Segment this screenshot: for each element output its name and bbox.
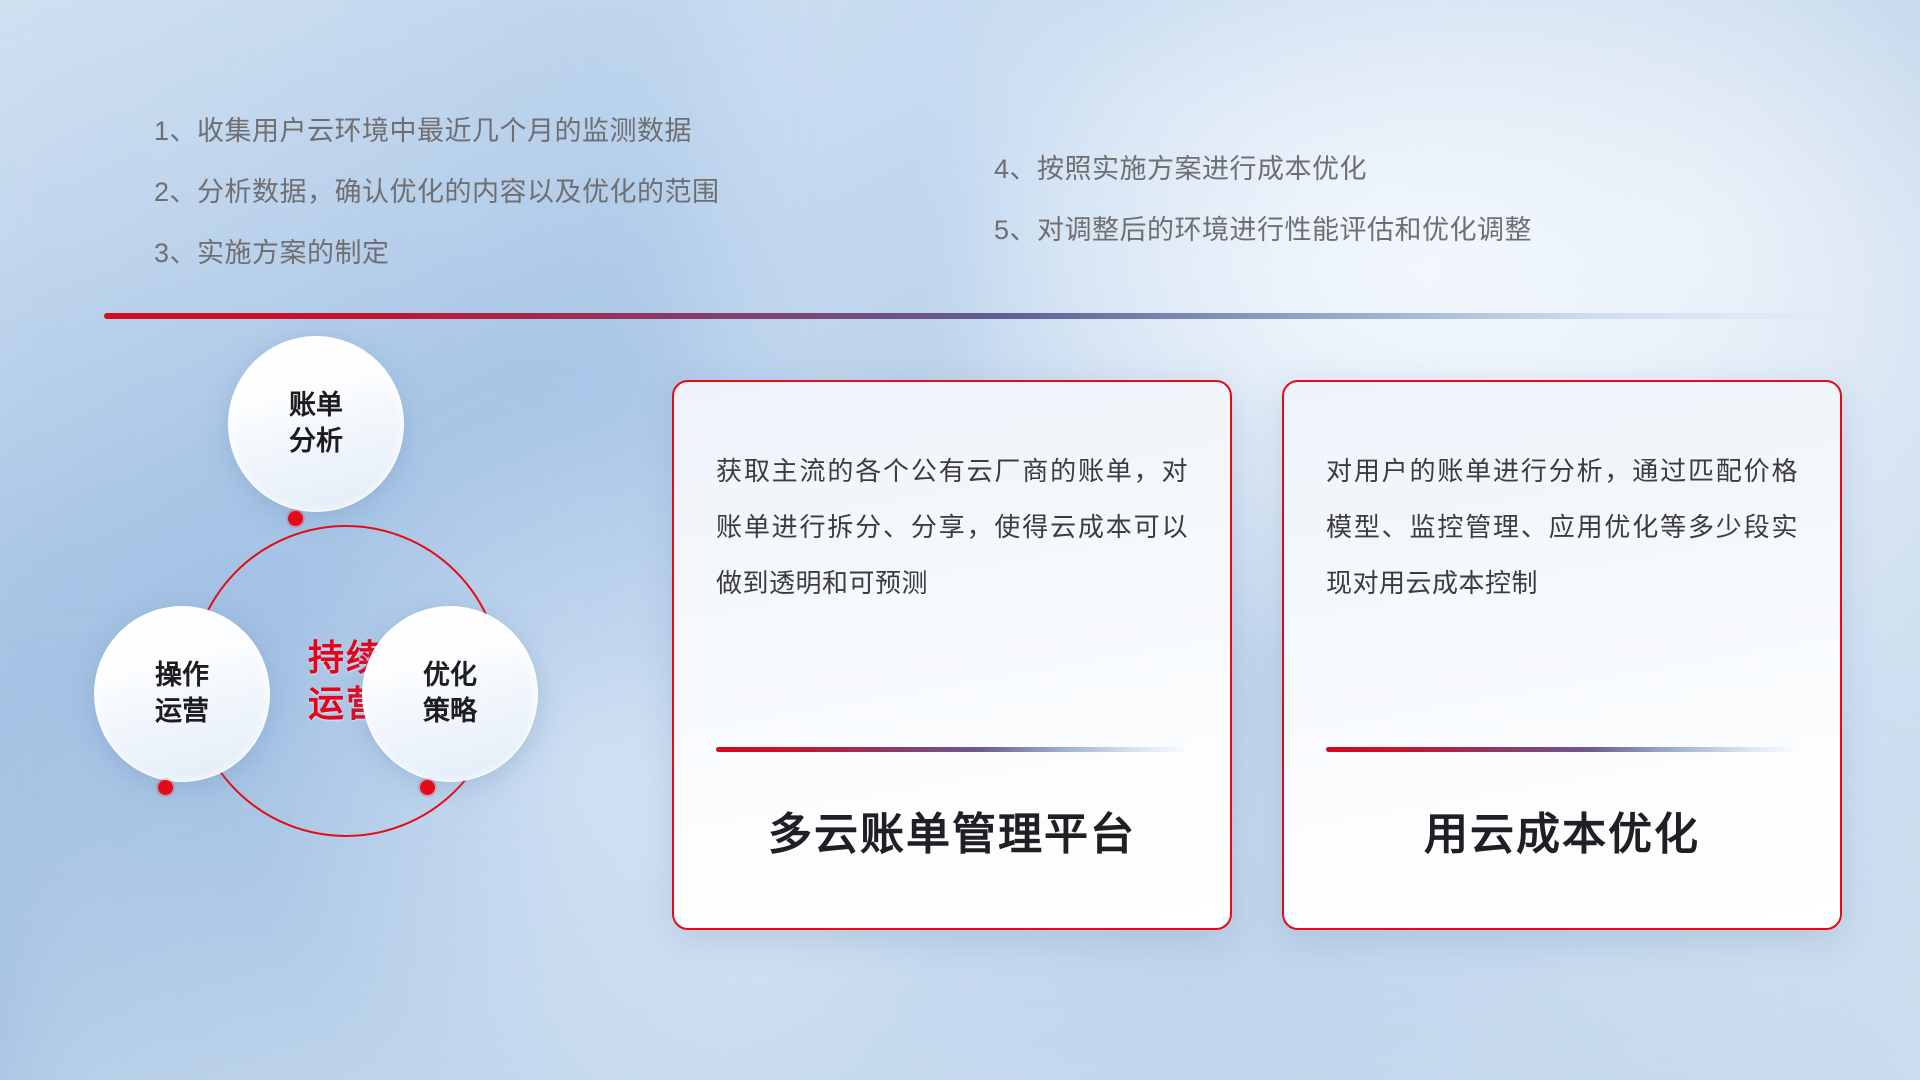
list-item: 5、对调整后的环境进行性能评估和优化调整 [994, 217, 1532, 244]
section-divider-rule [104, 313, 1834, 319]
card-multi-cloud-billing[interactable]: 获取主流的各个公有云厂商的账单，对账单进行拆分、分享，使得云成本可以做到透明和可… [672, 380, 1232, 930]
bubble-label-line2: 分析 [289, 424, 343, 460]
card-title: 多云账单管理平台 [716, 752, 1188, 928]
bubble-label-line2: 运营 [155, 694, 209, 730]
bubble-label-line2: 策略 [423, 694, 477, 730]
bubble-label-line1: 优化 [423, 658, 477, 694]
connector-dot-bottom-right [420, 780, 435, 795]
list-item: 4、按照实施方案进行成本优化 [994, 156, 1532, 183]
bubble-label-line1: 账单 [289, 388, 343, 424]
connector-dot-top [288, 511, 303, 526]
continuous-operation-diagram: 持续 运营 账单 分析 操作 运营 优化 策略 [100, 350, 620, 950]
list-item: 2、分析数据，确认优化的内容以及优化的范围 [154, 179, 720, 206]
bubble-bill-analysis[interactable]: 账单 分析 [228, 336, 404, 512]
connector-dot-bottom-left [158, 780, 173, 795]
bubble-label-line1: 操作 [155, 658, 209, 694]
bubble-optimization-strategy[interactable]: 优化 策略 [362, 606, 538, 782]
bubble-operations[interactable]: 操作 运营 [94, 606, 270, 782]
card-title: 用云成本优化 [1326, 752, 1798, 928]
list-item: 1、收集用户云环境中最近几个月的监测数据 [154, 118, 720, 145]
steps-list-left: 1、收集用户云环境中最近几个月的监测数据 2、分析数据，确认优化的内容以及优化的… [154, 118, 720, 301]
card-body-text: 对用户的账单进行分析，通过匹配价格模型、监控管理、应用优化等多少段实现对用云成本… [1326, 444, 1798, 612]
steps-list-right: 4、按照实施方案进行成本优化 5、对调整后的环境进行性能评估和优化调整 [994, 156, 1532, 278]
card-body-text: 获取主流的各个公有云厂商的账单，对账单进行拆分、分享，使得云成本可以做到透明和可… [716, 444, 1188, 612]
card-cloud-cost-optimization[interactable]: 对用户的账单进行分析，通过匹配价格模型、监控管理、应用优化等多少段实现对用云成本… [1282, 380, 1842, 930]
list-item: 3、实施方案的制定 [154, 240, 720, 267]
